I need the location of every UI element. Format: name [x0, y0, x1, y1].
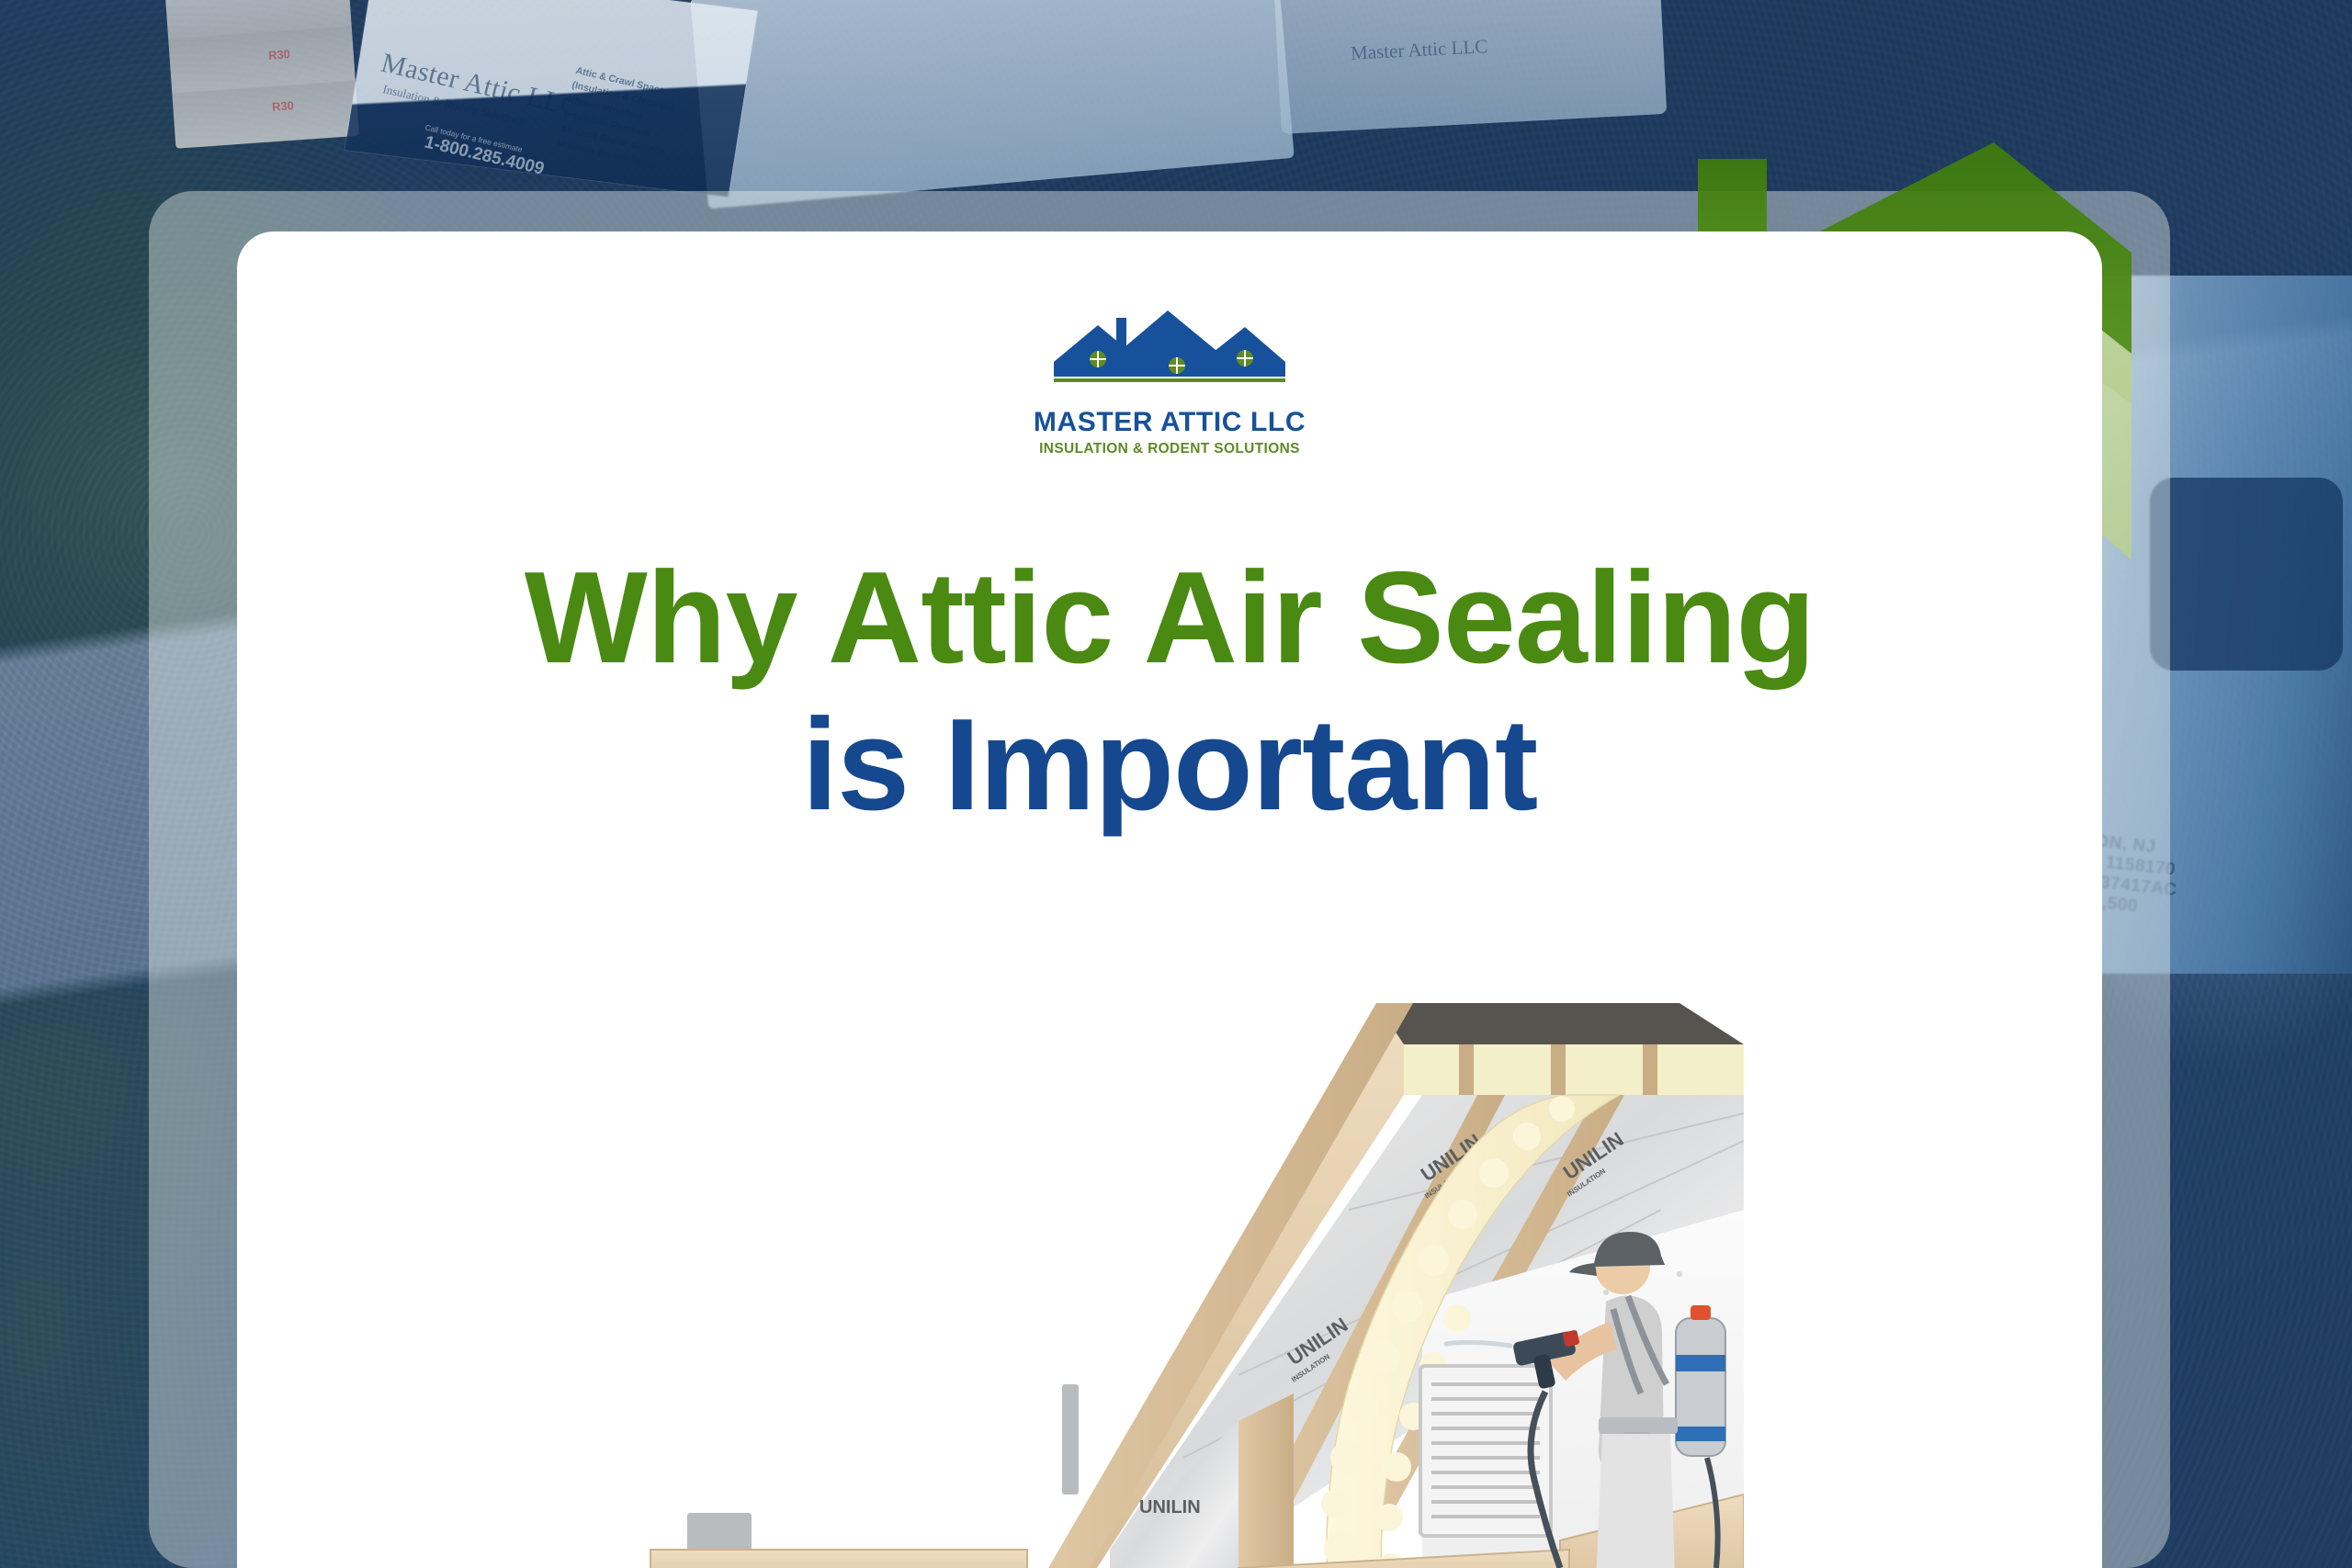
content-card: MASTER ATTIC LLC INSULATION & RODENT SOL…	[237, 231, 2102, 1568]
company-logo: MASTER ATTIC LLC INSULATION & RODENT SOL…	[1004, 305, 1335, 457]
spray-tank	[1676, 1305, 1725, 1456]
background-right-van-window	[2150, 478, 2343, 671]
logo-company-tagline: INSULATION & RODENT SOLUTIONS	[1004, 441, 1335, 457]
logo-baseline-rule	[1054, 378, 1285, 382]
worker-trousers	[1595, 1434, 1676, 1568]
insulation-roll-stack	[164, 0, 359, 149]
page-title: Why Attic Air Sealing is Important	[237, 553, 2102, 830]
attic-air-sealing-illustration: UNILIN INSULATION UNILIN INSULATION UNIL…	[595, 907, 1744, 1568]
logo-company-name: MASTER ATTIC LLC	[1004, 407, 1335, 438]
banner-service-list: Attic & Crawl Space (Insulation & Clean-…	[555, 63, 683, 175]
insulation-label-r30: R30	[268, 47, 291, 62]
background-second-truck	[1273, 0, 1668, 134]
worker-belt	[1599, 1417, 1678, 1434]
three-rooftops-icon	[1050, 305, 1289, 401]
headline-line-1: Why Attic Air Sealing	[237, 553, 2102, 683]
mesh-vent-strip	[687, 1384, 1079, 1566]
panel-brand-label: UNILIN	[1139, 1497, 1201, 1517]
headline-line-2: is Important	[237, 700, 2102, 830]
insulation-label-r30-2: R30	[272, 98, 295, 114]
